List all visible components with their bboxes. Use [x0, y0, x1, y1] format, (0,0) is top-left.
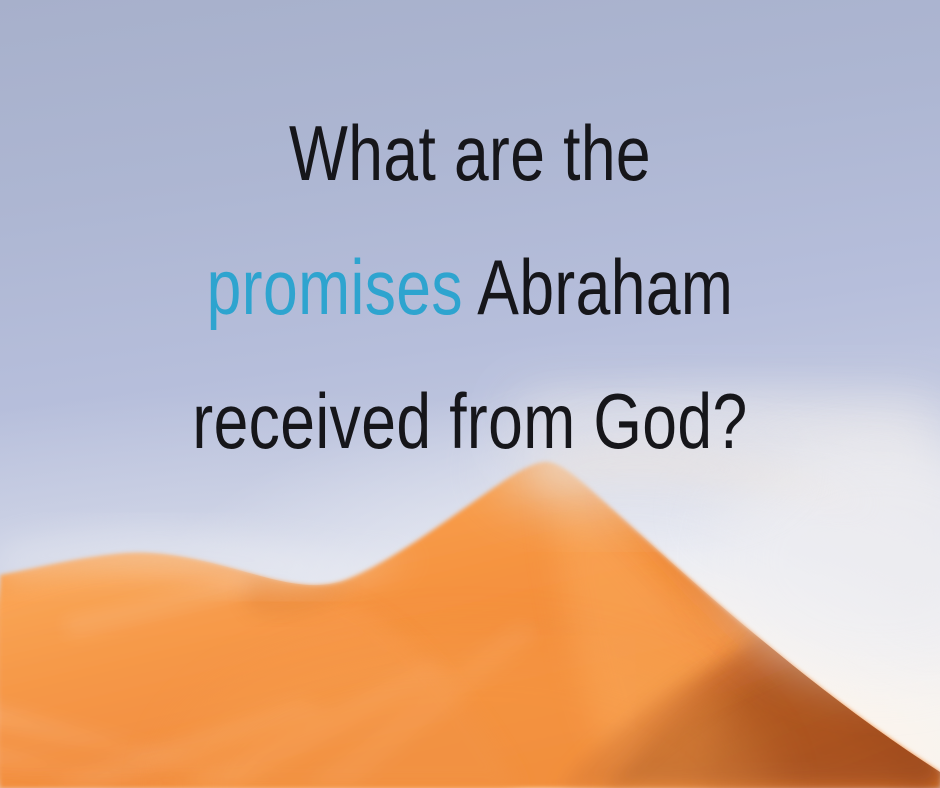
headline-line-1-text: What are the: [289, 109, 651, 197]
headline-line-2: promises Abraham: [94, 220, 846, 354]
headline-line-2-rest: Abraham: [463, 243, 733, 331]
quote-graphic: What are the promises Abraham received f…: [0, 0, 940, 788]
headline-accent-word: promises: [207, 243, 463, 331]
headline: What are the promises Abraham received f…: [0, 0, 940, 488]
headline-line-3-text: received from God?: [192, 377, 747, 465]
headline-line-1: What are the: [94, 86, 846, 220]
headline-line-3: received from God?: [94, 354, 846, 488]
